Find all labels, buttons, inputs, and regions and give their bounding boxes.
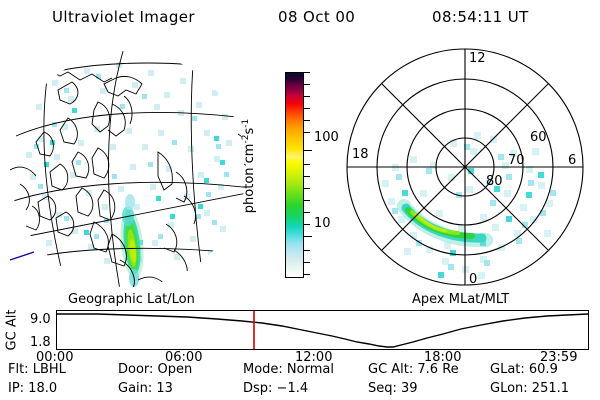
status-glat: GLat: 60.9 [490, 362, 558, 377]
altitude-curve [57, 314, 588, 347]
header-bar: Ultraviolet Imager 08 Oct 00 08:54:11 UT [0, 8, 600, 32]
status-gain: Gain: 13 [118, 381, 173, 396]
status-mode: Mode: Normal [243, 362, 334, 377]
status-gcalt: GC Alt: 7.6 Re [368, 362, 459, 377]
polar-dial-svg: 12 18 6 0 60 70 80 [330, 40, 600, 292]
apex-polar-panel[interactable]: 12 18 6 0 60 70 80 [330, 40, 600, 292]
observation-time: 08:54:11 UT [432, 8, 529, 26]
orbit-track-svg [57, 311, 588, 349]
status-ip: IP: 18.0 [8, 381, 57, 396]
colorbar-unit-exp1: -2 [241, 135, 251, 144]
colorbar-unit-s: s [242, 128, 257, 135]
status-door: Door: Open [118, 362, 192, 377]
status-footer: Flt: LBHL Door: Open Mode: Normal GC Alt… [0, 362, 600, 400]
instrument-title: Ultraviolet Imager [52, 8, 195, 26]
polar-label-lat-80: 80 [486, 174, 503, 189]
polar-label-mlt-6: 6 [568, 153, 576, 168]
colorbar-unit-photon: photon cm [242, 144, 257, 214]
orbit-plot-box[interactable] [56, 310, 589, 350]
observation-date: 08 Oct 00 [278, 8, 355, 26]
polar-label-lat-70: 70 [508, 153, 525, 168]
orbit-altitude-panel[interactable]: Geographic Lat/Lon Apex MLat/MLT GC Alt … [0, 292, 600, 354]
colorbar-gradient [285, 72, 304, 278]
polar-label-mlt-12: 12 [469, 51, 486, 66]
colorbar-label-10: 10 [314, 217, 331, 230]
polar-mlt-spokes [347, 49, 583, 285]
colorbar-ticks [304, 72, 312, 278]
geo-panel-title: Geographic Lat/Lon [68, 292, 195, 307]
uvi-display: Ultraviolet Imager 08 Oct 00 08:54:11 UT [0, 0, 600, 400]
polar-label-mlt-0: 0 [469, 272, 477, 287]
colorbar-unit-exp2: -1 [241, 119, 251, 128]
colorbar-axis-title: photon cm-2s-1 [241, 119, 257, 213]
orbit-y-min-label: 1.8 [30, 335, 51, 350]
status-flt: Flt: LBHL [8, 362, 66, 377]
polar-label-lat-60: 60 [530, 130, 547, 145]
orbit-y-axis-label: GC Alt [5, 310, 20, 351]
geographic-map-panel[interactable] [8, 44, 260, 290]
orbit-y-max-label: 9.0 [30, 312, 51, 327]
polar-panel-title: Apex MLat/MLT [412, 292, 509, 307]
status-seq: Seq: 39 [368, 381, 418, 396]
orbit-track-segment [10, 252, 34, 260]
status-dsp: Dsp: −1.4 [243, 381, 308, 396]
geographic-map-svg [8, 44, 260, 290]
polar-label-mlt-18: 18 [352, 147, 369, 162]
status-glon: GLon: 251.1 [490, 381, 569, 396]
